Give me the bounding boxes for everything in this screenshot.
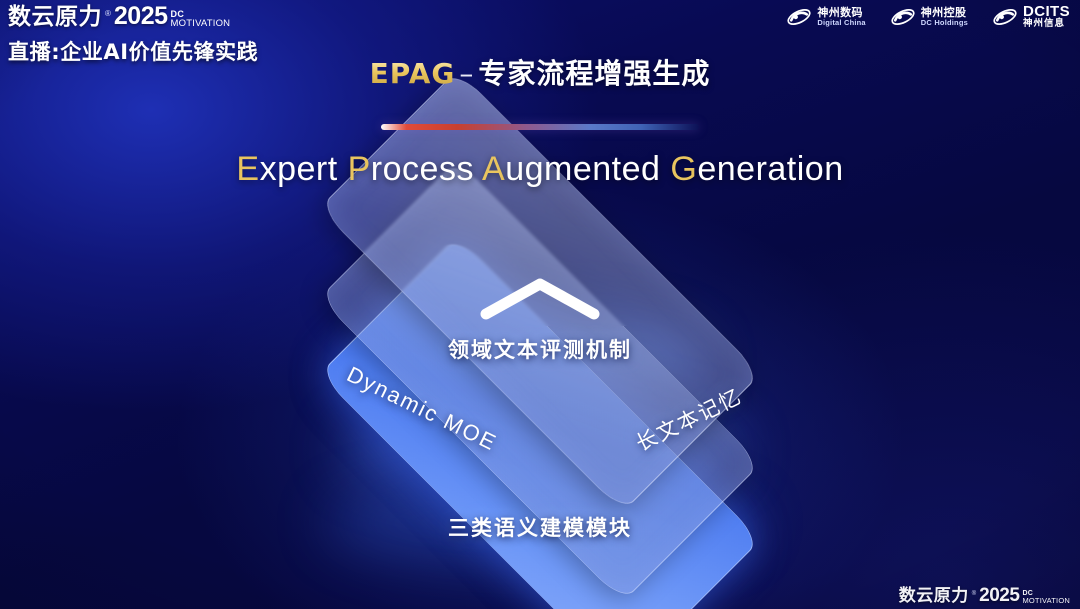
- brand-dc-motivation: DC MOTIVATION: [171, 10, 231, 30]
- partner-name-cn: 神州控股: [921, 7, 968, 19]
- title-acronym: EPAG: [370, 57, 456, 90]
- partner-logo-bar: 神州数码 Digital China 神州控股 DC Holdings: [786, 4, 1070, 29]
- partner-name-en: DCITS: [1023, 4, 1070, 19]
- partner-logo-digital-china: 神州数码 Digital China: [786, 6, 865, 28]
- brand-name-cn: 数云原力: [8, 6, 102, 29]
- partner-logo-text: 神州控股 DC Holdings: [921, 7, 968, 27]
- subtitle-cap-p: P: [348, 150, 371, 188]
- subtitle-word-expert: Expert: [236, 150, 337, 188]
- brand-motivation-label: MOTIVATION: [171, 19, 231, 29]
- registered-mark-icon: ®: [105, 10, 111, 29]
- swirl-icon: [890, 6, 916, 28]
- watermark-motivation-label: MOTIVATION: [1022, 597, 1070, 605]
- subtitle-rest-augmented: ugmented: [505, 150, 660, 188]
- subtitle: Expert Process Augmented Generation: [0, 150, 1080, 189]
- subtitle-rest-process: rocess: [371, 150, 474, 188]
- swirl-icon: [786, 6, 812, 28]
- partner-logo-dcits: DCITS 神州信息: [992, 4, 1070, 29]
- swirl-icon: [992, 6, 1018, 28]
- title-dash: –: [455, 57, 478, 90]
- partner-name-cn: 神州数码: [817, 7, 865, 19]
- slide-background: 数云原力 ® 2025 DC MOTIVATION 直播:企业AI价值先锋实践 …: [0, 0, 1080, 609]
- subtitle-cap-g: G: [670, 150, 697, 188]
- live-stream-tag: 直播:企业AI价值先锋实践: [8, 36, 258, 66]
- partner-name-en: DC Holdings: [921, 19, 968, 27]
- registered-mark-icon: ®: [972, 591, 976, 605]
- brand-lockup: 数云原力 ® 2025 DC MOTIVATION: [8, 4, 258, 29]
- subtitle-word-augmented: Augmented: [482, 150, 660, 188]
- watermark-dc-motivation: DC MOTIVATION: [1022, 590, 1070, 606]
- brand-watermark-bottom-right: 数云原力 ® 2025 DC MOTIVATION: [899, 586, 1070, 605]
- partner-logo-text: DCITS 神州信息: [1023, 4, 1070, 29]
- partner-name-en: Digital China: [817, 19, 865, 27]
- watermark-lockup: 数云原力 ® 2025 DC MOTIVATION: [899, 586, 1070, 605]
- title-divider: [381, 124, 699, 130]
- subtitle-rest-generation: eneration: [697, 150, 843, 188]
- subtitle-cap-e: E: [236, 150, 259, 188]
- watermark-name-cn: 数云原力: [899, 588, 969, 605]
- diagram-label-bottom: 三类语义建模模块: [448, 512, 632, 542]
- partner-logo-dc-holdings: 神州控股 DC Holdings: [890, 6, 968, 28]
- title-line: EPAG–专家流程增强生成: [370, 52, 711, 92]
- brand-year: 2025: [114, 4, 168, 29]
- brand-logo-top-left: 数云原力 ® 2025 DC MOTIVATION 直播:企业AI价值先锋实践: [8, 4, 258, 66]
- partner-name-cn: 神州信息: [1023, 19, 1070, 29]
- subtitle-word-process: Process: [348, 150, 474, 188]
- partner-logo-text: 神州数码 Digital China: [817, 7, 865, 27]
- subtitle-cap-a: A: [482, 150, 505, 188]
- layered-stack-diagram: 领域文本评测机制 Dynamic MOE 长文本记忆 三类语义建模模块: [280, 228, 800, 588]
- watermark-year: 2025: [979, 586, 1019, 605]
- chevron-up-icon: [476, 274, 604, 322]
- diagram-label-top: 领域文本评测机制: [448, 334, 632, 364]
- title-chinese: 专家流程增强生成: [478, 57, 710, 90]
- subtitle-word-generation: Generation: [670, 150, 843, 188]
- subtitle-rest-expert: xpert: [260, 150, 338, 188]
